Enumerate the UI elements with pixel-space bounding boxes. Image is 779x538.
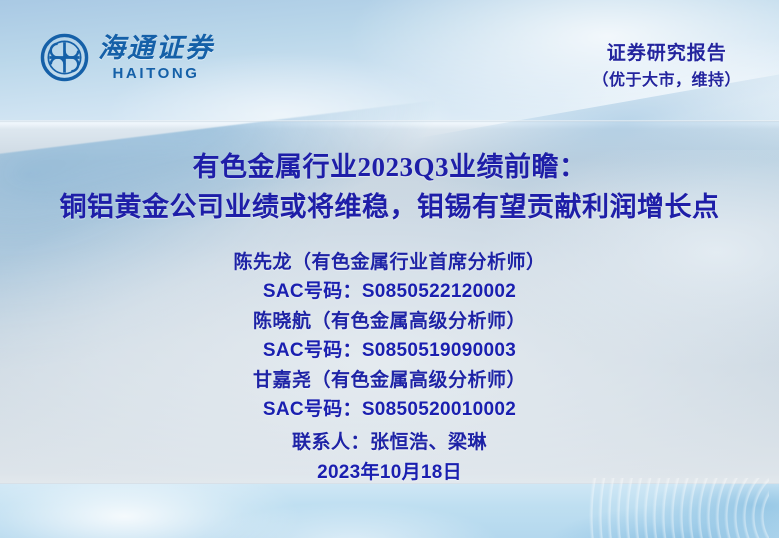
page-title-line-2: 铜铝黄金公司业绩或将维稳，钼锡有望贡献利润增长点 [0,188,779,228]
brand-name-en: HAITONG [112,66,199,81]
report-type-label: 证券研究报告 [592,42,741,67]
brand-wordmark: 海通证券 HAITONG [98,35,214,81]
author-sac-code: SAC号码：S0850520010002 [0,395,779,424]
author-credits: 陈先龙（有色金属行业首席分析师） SAC号码：S0850522120002 陈晓… [0,248,779,488]
page-title: 有色金属行业2023Q3业绩前瞻： 铜铝黄金公司业绩或将维稳，钼锡有望贡献利润增… [0,148,779,228]
author-name: 陈晓航（有色金属高级分析师） [0,307,779,336]
slide-header: 海通证券 HAITONG 证券研究报告 （优于大市，维持） [0,0,779,120]
page-title-line-1: 有色金属行业2023Q3业绩前瞻： [0,148,779,188]
author-name: 甘嘉尧（有色金属高级分析师） [0,366,779,395]
brand-name-cn: 海通证券 [98,35,214,62]
report-rating-label: （优于大市，维持） [592,69,741,93]
author-sac-code: SAC号码：S0850522120002 [0,277,779,306]
background-water-band [0,484,779,538]
author-name: 陈先龙（有色金属行业首席分析师） [0,248,779,277]
brand-lockup: 海通证券 HAITONG [40,33,214,82]
slide-body: 有色金属行业2023Q3业绩前瞻： 铜铝黄金公司业绩或将维稳，钼锡有望贡献利润增… [0,120,779,484]
report-cover-slide: 海通证券 HAITONG 证券研究报告 （优于大市，维持） 有色金属行业2023… [0,0,779,538]
publish-date: 2023年10月18日 [0,458,779,488]
author-sac-code: SAC号码：S0850519090003 [0,336,779,365]
haitong-circular-emblem-icon [40,33,89,82]
report-meta: 证券研究报告 （优于大市，维持） [592,42,741,93]
contact-persons: 联系人：张恒浩、梁琳 [0,428,779,458]
